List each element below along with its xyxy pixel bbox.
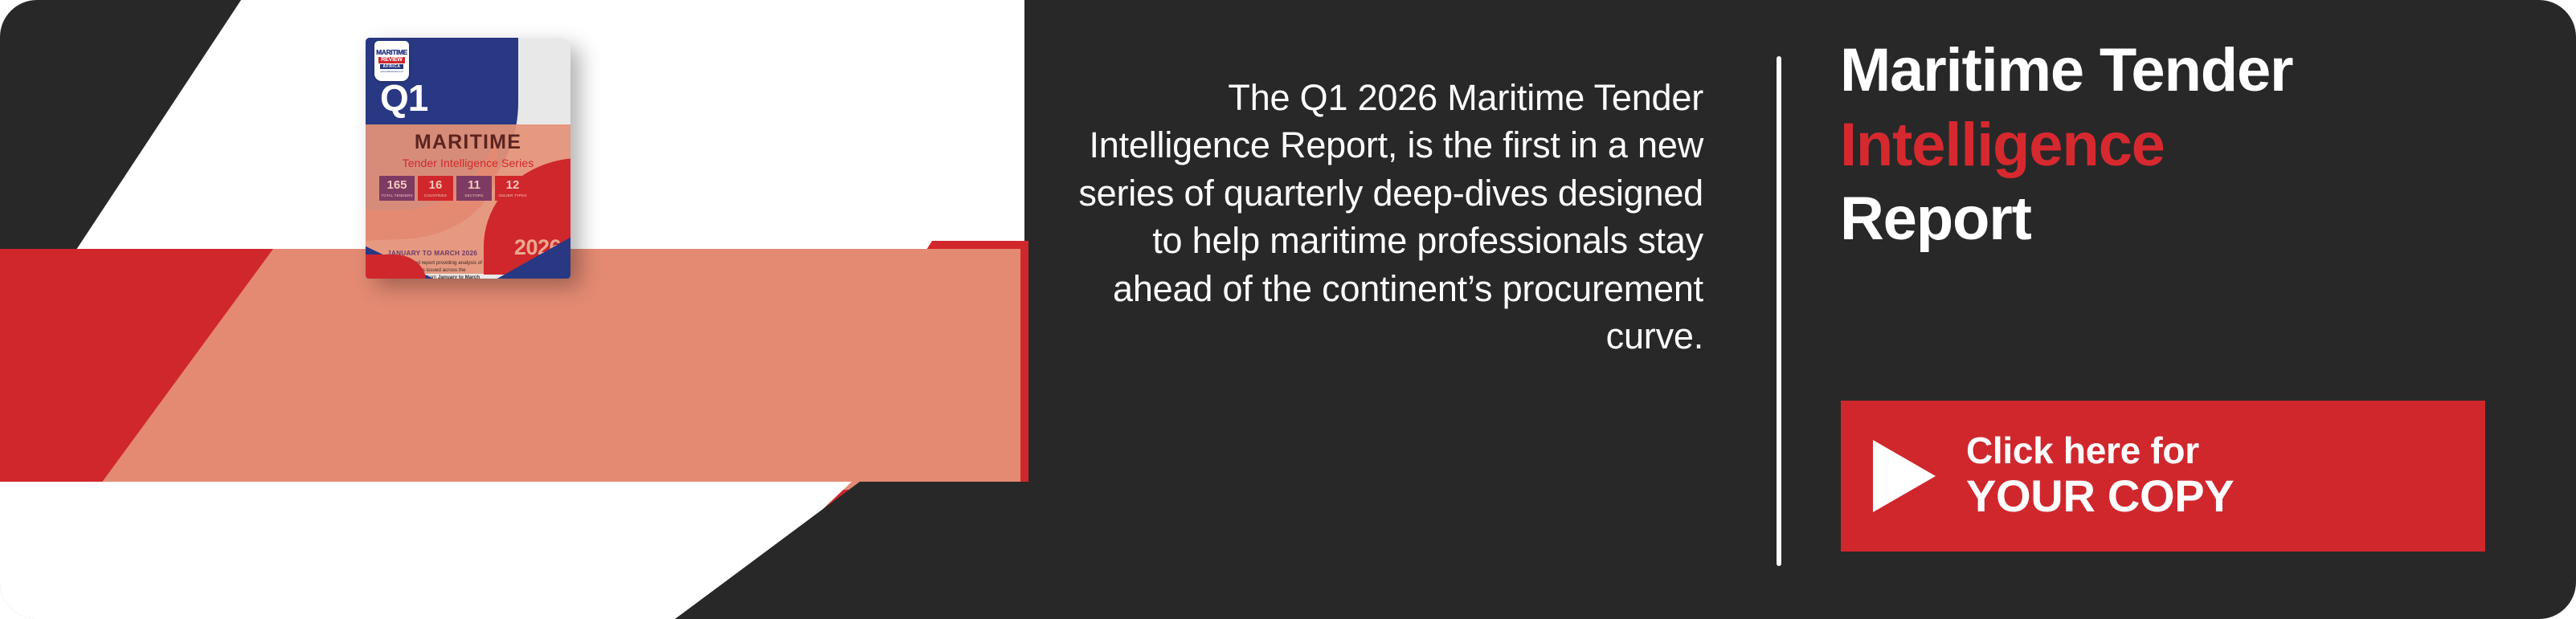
description-paragraph: The Q1 2026 Maritime Tender Intelligence…	[1069, 74, 1703, 360]
cta-label: Click here for YOUR COPY	[1966, 430, 2234, 522]
maritime-review-africa-logo: MARITIME REVIEW AFRICA www.maritimerevie…	[374, 41, 409, 81]
stat-value: 165	[386, 179, 407, 191]
stat-value: 11	[468, 179, 480, 191]
logo-africa-text: AFRICA	[380, 64, 404, 69]
headline-line-3: Report	[1840, 182, 2292, 257]
stat-box: 16 COUNTRIES	[418, 176, 453, 201]
click-here-for-your-copy-button[interactable]: Click here for YOUR COPY	[1841, 401, 2485, 552]
stat-label: TOTAL TENDERS	[381, 193, 412, 198]
promotional-banner: MARITIME REVIEW AFRICA www.maritimerevie…	[0, 0, 2576, 619]
stat-value: 12	[506, 179, 520, 191]
report-cover: MARITIME REVIEW AFRICA www.maritimerevie…	[366, 38, 570, 279]
vertical-divider	[1777, 56, 1781, 566]
cover-stats-row: 165 TOTAL TENDERS 16 COUNTRIES 11 SECTOR…	[379, 176, 530, 201]
logo-url-text: www.maritimereview.co.za	[380, 71, 403, 73]
stat-box: 165 TOTAL TENDERS	[379, 176, 415, 201]
report-cover-image[interactable]: MARITIME REVIEW AFRICA www.maritimerevie…	[366, 38, 570, 279]
cover-quarter-badge: Q1	[380, 79, 427, 116]
stat-value: 16	[429, 179, 443, 191]
logo-review-text: REVIEW	[378, 57, 404, 63]
cover-subtitle: Tender Intelligence Series	[366, 157, 570, 169]
stat-label: COUNTRIES	[424, 193, 447, 198]
cta-line-1: Click here for	[1966, 430, 2234, 472]
logo-maritime-text: MARITIME	[376, 49, 407, 56]
page-title: Maritime Tender Intelligence Report	[1840, 34, 2292, 257]
cta-line-2: YOUR COPY	[1966, 471, 2234, 522]
stat-box: 12 ISSUER TYPES	[495, 176, 530, 201]
headline-line-1: Maritime Tender	[1840, 34, 2292, 108]
stat-box: 11 SECTORS	[456, 176, 492, 201]
cover-title: MARITIME	[366, 131, 570, 154]
stat-label: ISSUER TYPES	[498, 193, 526, 198]
headline-line-2: Intelligence	[1840, 108, 2292, 183]
stat-label: SECTORS	[464, 193, 483, 198]
play-triangle-icon	[1873, 440, 1936, 512]
